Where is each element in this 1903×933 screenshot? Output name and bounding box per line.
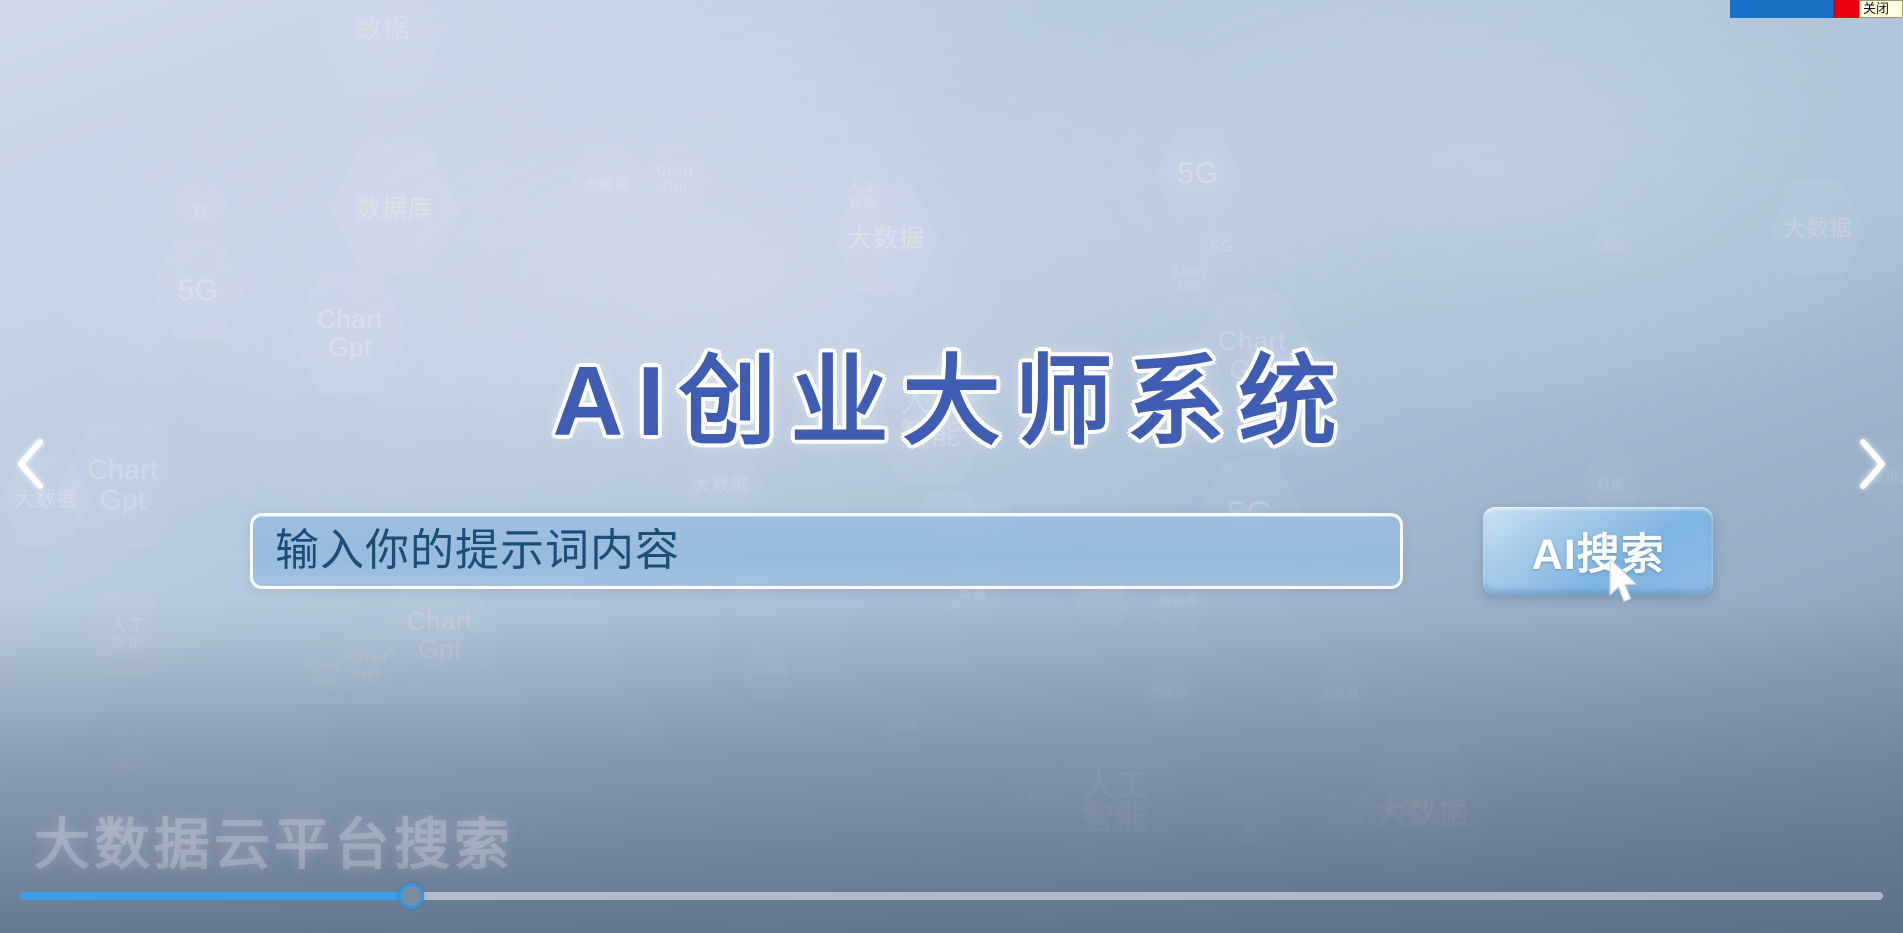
next-slide-arrow[interactable] bbox=[1841, 0, 1903, 933]
chevron-right-icon bbox=[1857, 437, 1887, 496]
taskbar-strip: 关闭 bbox=[1730, 0, 1903, 18]
slider-rail[interactable] bbox=[20, 892, 1883, 900]
search-row: AI搜索 bbox=[0, 507, 1903, 595]
search-input[interactable] bbox=[250, 513, 1403, 589]
taskbar-blue-segment[interactable] bbox=[1730, 0, 1833, 18]
close-button-red[interactable] bbox=[1833, 0, 1859, 18]
slide-background bbox=[0, 0, 1903, 933]
background-watermark-text: 大数据云平台搜索 bbox=[34, 800, 514, 881]
slide-progress-slider[interactable] bbox=[20, 883, 1883, 909]
close-tooltip: 关闭 bbox=[1859, 0, 1903, 18]
page-title: AI创业大师系统 bbox=[0, 322, 1903, 464]
presentation-slide: 数据数据库数5GChartGpt大数据ChartGpt人工智能大数据5G5GCh… bbox=[0, 0, 1903, 933]
ai-search-button[interactable]: AI搜索 bbox=[1483, 507, 1713, 595]
slider-fill bbox=[20, 892, 411, 900]
prev-slide-arrow[interactable] bbox=[0, 0, 62, 933]
chevron-left-icon bbox=[16, 437, 46, 496]
slider-thumb[interactable] bbox=[398, 883, 424, 909]
